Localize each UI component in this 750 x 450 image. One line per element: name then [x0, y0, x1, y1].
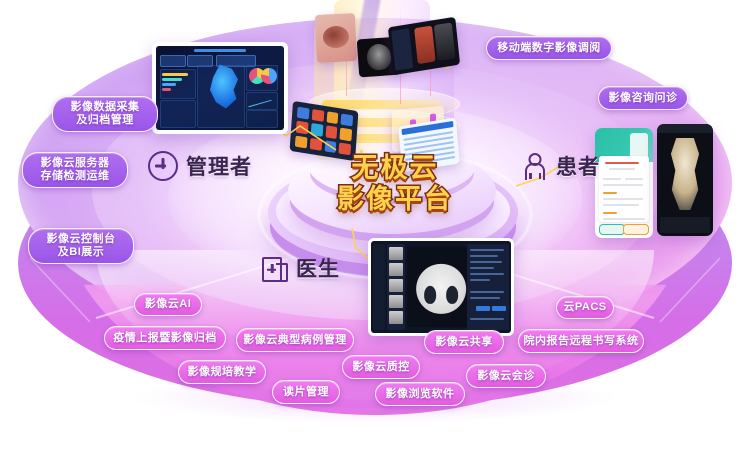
- pill-consultation[interactable]: 影像咨询问诊: [598, 86, 688, 110]
- pill-data-collection[interactable]: 影像数据采集 及归档管理: [52, 96, 158, 132]
- pill-quality-control[interactable]: 影像云质控: [342, 355, 420, 379]
- ct-image-canvas: [407, 247, 474, 328]
- endoscopy-thumbnail: [315, 13, 357, 63]
- pill-console-bi[interactable]: 影像云控制台 及BI展示: [28, 228, 134, 264]
- skeleton-xray-image: [663, 138, 707, 210]
- pill-training[interactable]: 影像规培教学: [178, 360, 266, 384]
- app-grid: [295, 107, 353, 156]
- platform-title-line2: 影像平台: [300, 184, 490, 215]
- viewer-image-b: [434, 22, 456, 61]
- dashboard-content: [156, 46, 284, 130]
- role-admin-label: 管理者: [186, 151, 252, 181]
- role-patient-label: 患者: [556, 151, 600, 181]
- report-card: [599, 156, 649, 222]
- xray-app-phone: [657, 124, 713, 236]
- viewer-sidebar: [391, 28, 413, 71]
- viewer-image-a: [414, 26, 436, 65]
- pill-epidemic-report[interactable]: 疫情上报暨影像归档: [104, 326, 226, 350]
- pill-cloud-sharing[interactable]: 影像云共享: [424, 330, 504, 354]
- role-patient[interactable]: 患者: [522, 151, 600, 181]
- hospital-cross-icon: [262, 255, 288, 281]
- pill-mobile-retrieval[interactable]: 移动端数字影像调阅: [486, 36, 612, 60]
- app-thumbnail-strip: [660, 217, 710, 233]
- ct-report-panel: [467, 244, 509, 331]
- ct-viewer-screen: [368, 238, 514, 336]
- role-doctor[interactable]: 医生: [262, 253, 340, 283]
- patient-app-phone: [595, 128, 653, 238]
- pill-film-reading[interactable]: 读片管理: [272, 380, 340, 404]
- pill-case-management[interactable]: 影像云典型病例管理: [236, 328, 354, 352]
- ct-viewer-content: [371, 241, 511, 333]
- pill-viewer-software[interactable]: 影像浏览软件: [375, 382, 465, 406]
- platform-title: 无极云 影像平台: [300, 154, 490, 215]
- dashboard-title-bar: [194, 49, 246, 52]
- ct-toolbar: [373, 244, 385, 331]
- infographic-canvas: 无极云 影像平台 管理者 患者 医生 影像数据采集 及归档管理 影像云服务器 存…: [0, 0, 750, 450]
- app-action-right[interactable]: [623, 224, 649, 235]
- role-admin[interactable]: 管理者: [148, 151, 252, 181]
- app-top-toolbar: [657, 124, 713, 133]
- person-icon: [522, 153, 548, 179]
- pill-cloud-consult[interactable]: 影像云会诊: [466, 364, 546, 388]
- bi-dashboard-screen: [152, 42, 288, 134]
- platform-title-line1: 无极云: [300, 154, 490, 184]
- pill-cloud-server[interactable]: 影像云服务器 存储检测运维: [22, 152, 128, 188]
- pill-cloud-pacs[interactable]: 云PACS: [556, 296, 614, 319]
- pill-cloud-ai[interactable]: 影像云AI: [134, 293, 202, 316]
- app-action-left[interactable]: [599, 224, 625, 235]
- circle-plus-icon: [148, 151, 178, 181]
- role-doctor-label: 医生: [296, 253, 340, 283]
- pill-remote-report[interactable]: 院内报告远程书写系统: [518, 329, 644, 353]
- ct-thorax: [416, 264, 466, 314]
- ct-thumbnail-rail: [387, 244, 405, 331]
- app-grid-thumbnail: [290, 101, 359, 161]
